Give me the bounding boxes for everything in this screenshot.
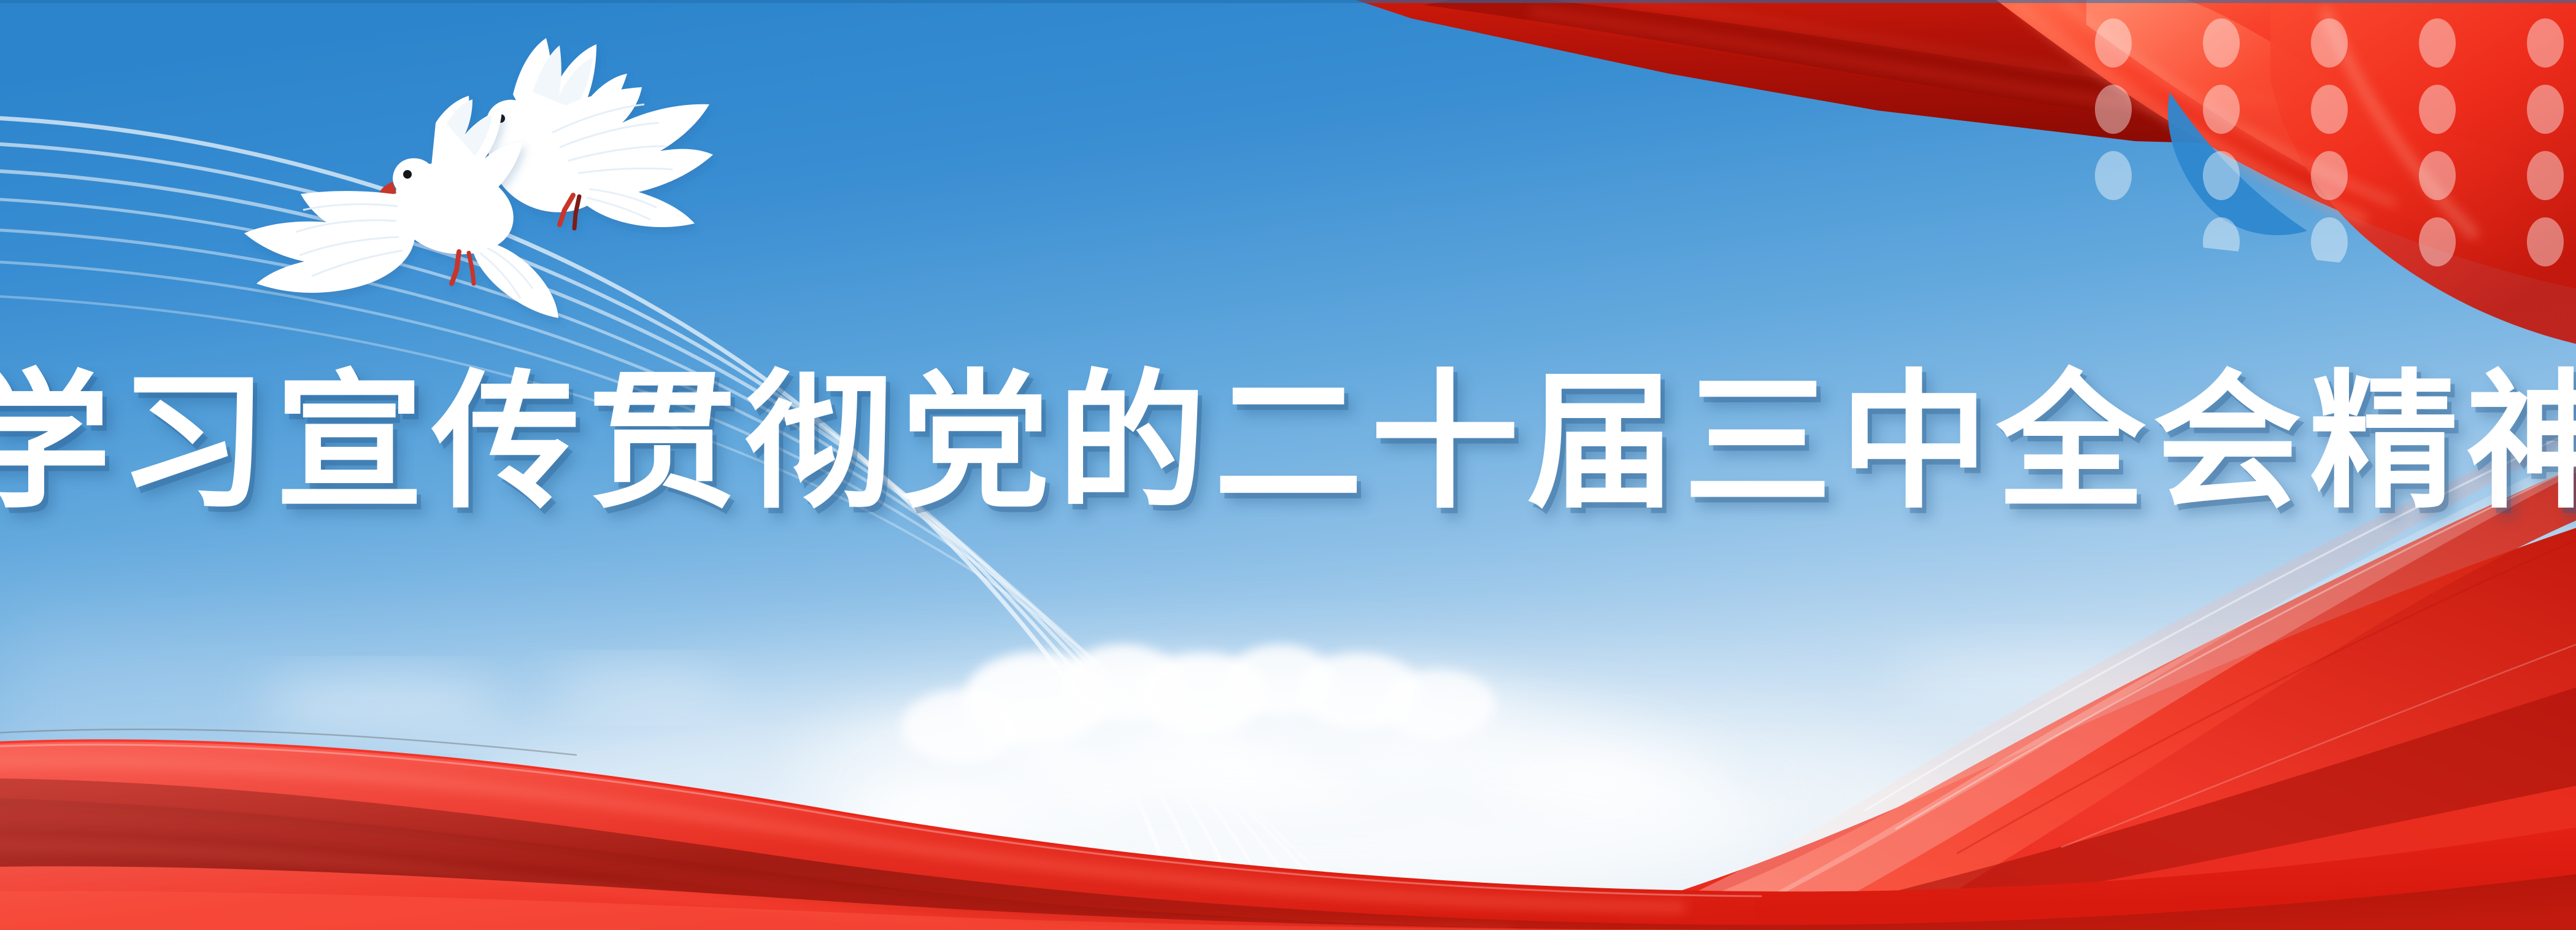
propaganda-banner: 学习宣传贯彻党的二十届三中全会精神 xyxy=(0,0,2576,930)
banner-artwork xyxy=(0,0,2576,930)
top-edge-shade xyxy=(0,0,2576,3)
